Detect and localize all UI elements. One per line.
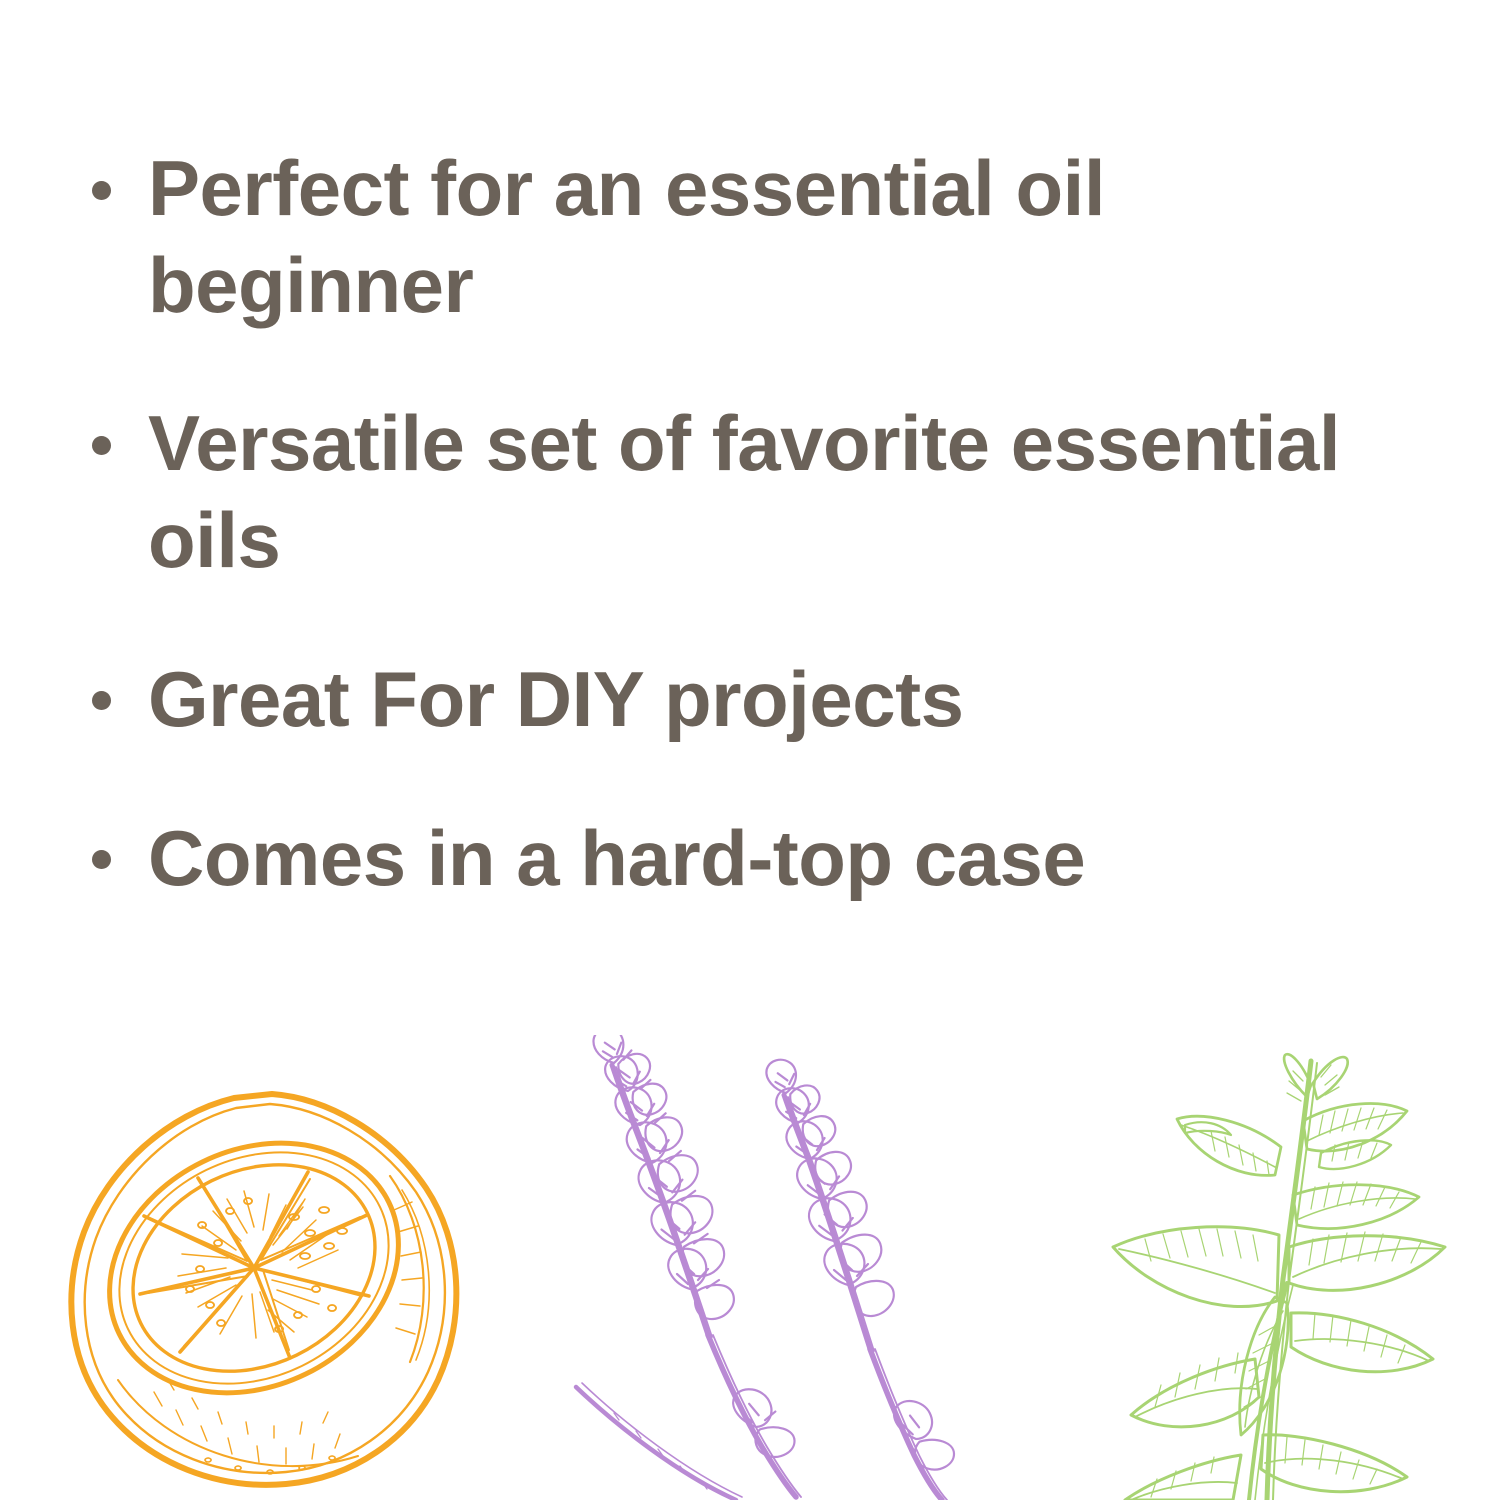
lemon-half-illustration: [58, 1080, 478, 1500]
lavender-sprigs-illustration: [540, 1035, 970, 1500]
feature-text: Comes in a hard-top case: [148, 810, 1415, 907]
bullet-dot-icon: [92, 850, 111, 869]
botanical-illustration-band: [0, 1035, 1500, 1500]
bullet-dot-icon: [92, 691, 111, 710]
list-item: Perfect for an essential oil beginner: [85, 140, 1415, 333]
list-item: Great For DIY projects: [85, 651, 1415, 748]
list-item: Versatile set of favorite essential oils: [85, 395, 1415, 588]
bullet-dot-icon: [92, 436, 111, 455]
list-item: Comes in a hard-top case: [85, 810, 1415, 907]
feature-text: Great For DIY projects: [148, 651, 1415, 748]
feature-bullet-list: Perfect for an essential oil beginner Ve…: [85, 140, 1415, 906]
feature-text: Perfect for an essential oil beginner: [148, 140, 1415, 333]
product-feature-card: Perfect for an essential oil beginner Ve…: [0, 0, 1500, 1500]
green-herb-illustration: [1035, 1035, 1500, 1500]
feature-text: Versatile set of favorite essential oils: [148, 395, 1415, 588]
bullet-dot-icon: [92, 181, 111, 200]
